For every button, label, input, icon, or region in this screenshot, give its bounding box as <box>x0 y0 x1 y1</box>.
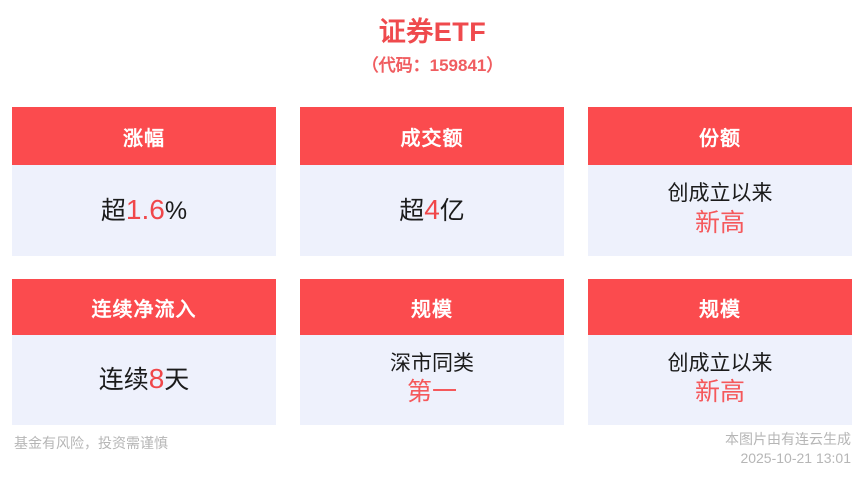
infographic-page: 证券ETF （代码：159841） 涨幅 超1.6% 成交额 超4亿 份额 创成… <box>0 0 865 478</box>
stat-card-body: 超4亿 <box>300 165 564 256</box>
page-subtitle: （代码：159841） <box>0 52 865 80</box>
stat-top-line: 创成立以来 <box>668 352 773 376</box>
stat-card-shares: 份额 创成立以来 新高 <box>588 107 852 256</box>
stat-card-body: 连续8天 <box>12 335 276 425</box>
stat-value-line: 连续8天 <box>99 363 190 394</box>
stat-bottom-line: 第一 <box>407 378 457 406</box>
stat-value-line: 超1.6% <box>101 194 187 225</box>
stat-card-title: 涨幅 <box>12 107 276 165</box>
stat-card-title: 成交额 <box>300 107 564 165</box>
stat-card-change: 涨幅 超1.6% <box>12 107 276 256</box>
stat-top-line: 深市同类 <box>390 352 474 376</box>
credit-source: 本图片由有连云生成 <box>725 430 851 449</box>
stat-card-body: 创成立以来 新高 <box>588 165 852 256</box>
stat-suffix: 天 <box>164 366 189 394</box>
stat-prefix: 连续 <box>99 366 149 394</box>
stat-bottom-line: 新高 <box>695 378 745 406</box>
stat-card-body: 创成立以来 新高 <box>588 335 852 425</box>
stat-value: 1.6 <box>126 194 165 225</box>
stat-top-line: 创成立以来 <box>668 182 773 206</box>
stats-card-grid: 涨幅 超1.6% 成交额 超4亿 份额 创成立以来 新高 连续净流入 连续8天 <box>12 107 853 425</box>
page-footer: 基金有风险，投资需谨慎 本图片由有连云生成 2025-10-21 13:01 <box>0 430 865 470</box>
stat-card-body: 超1.6% <box>12 165 276 256</box>
stat-card-body: 深市同类 第一 <box>300 335 564 425</box>
stat-card-turnover: 成交额 超4亿 <box>300 107 564 256</box>
stat-value: 8 <box>149 363 165 394</box>
stat-card-title: 连续净流入 <box>12 279 276 335</box>
stat-prefix: 超 <box>101 197 126 225</box>
stat-value: 4 <box>424 194 440 225</box>
stat-card-title: 规模 <box>588 279 852 335</box>
stat-bottom-line: 新高 <box>695 209 745 237</box>
credit-timestamp: 2025-10-21 13:01 <box>725 449 851 468</box>
stat-suffix: % <box>165 197 187 225</box>
page-header: 证券ETF （代码：159841） <box>0 0 865 80</box>
stat-card-title: 份额 <box>588 107 852 165</box>
page-title: 证券ETF <box>0 14 865 50</box>
stat-prefix: 超 <box>399 197 424 225</box>
image-credit: 本图片由有连云生成 2025-10-21 13:01 <box>725 430 851 468</box>
stat-suffix: 亿 <box>440 197 465 225</box>
risk-disclaimer: 基金有风险，投资需谨慎 <box>14 430 168 453</box>
stat-card-scale-rank: 规模 深市同类 第一 <box>300 279 564 425</box>
stat-card-title: 规模 <box>300 279 564 335</box>
stat-card-net-inflow: 连续净流入 连续8天 <box>12 279 276 425</box>
stat-value-line: 超4亿 <box>399 194 465 225</box>
stat-card-scale-high: 规模 创成立以来 新高 <box>588 279 852 425</box>
